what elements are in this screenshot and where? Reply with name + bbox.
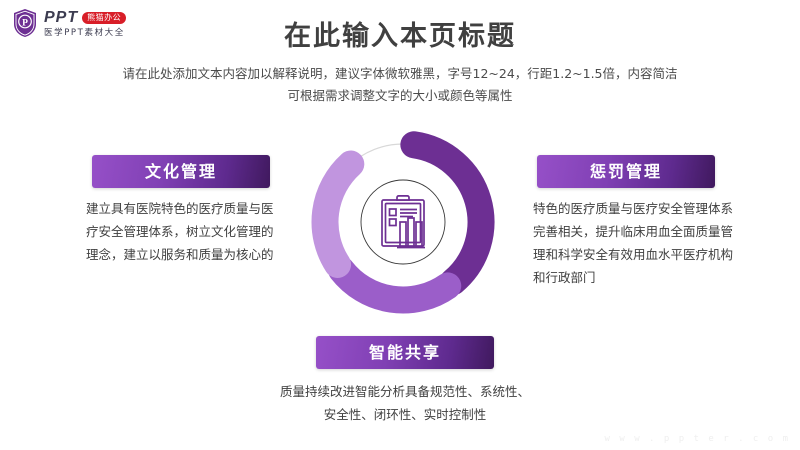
page-subtitle-line-1: 请在此处添加文本内容加以解释说明，建议字体微软雅黑，字号12~24，行距1.2~…	[0, 63, 800, 85]
donut-segment-2	[325, 164, 351, 264]
section-body-smart-sharing-line-2: 安全性、闭环性、实时控制性	[205, 403, 605, 426]
section-label-smart-sharing[interactable]: 智能共享	[316, 336, 494, 369]
footer-watermark: w w w . p p t e r . c o m	[605, 434, 790, 444]
section-label-culture-management[interactable]: 文化管理	[92, 155, 270, 188]
section-body-smart-sharing-line-1: 质量持续改进智能分析具备规范性、系统性、	[205, 380, 605, 403]
page-subtitle-line-2: 可根据需求调整文字的大小或颜色等属性	[0, 85, 800, 107]
page-title: 在此输入本页标题	[0, 14, 800, 53]
donut-segment-1	[342, 270, 448, 300]
section-body-culture-management: 建立具有医院特色的医疗质量与医疗安全管理体系，树立文化管理的理念，建立以服务和质…	[86, 197, 282, 266]
clipboard-bar-chart-icon	[370, 189, 436, 255]
section-label-penalty-management[interactable]: 惩罚管理	[537, 155, 715, 188]
page-subtitle: 请在此处添加文本内容加以解释说明，建议字体微软雅黑，字号12~24，行距1.2~…	[0, 63, 800, 107]
donut-chart	[303, 122, 503, 322]
section-body-smart-sharing: 质量持续改进智能分析具备规范性、系统性、 安全性、闭环性、实时控制性	[205, 380, 605, 426]
section-body-penalty-management: 特色的医疗质量与医疗安全管理体系完善相关，提升临床用血全面质量管理和科学安全有效…	[533, 197, 733, 290]
